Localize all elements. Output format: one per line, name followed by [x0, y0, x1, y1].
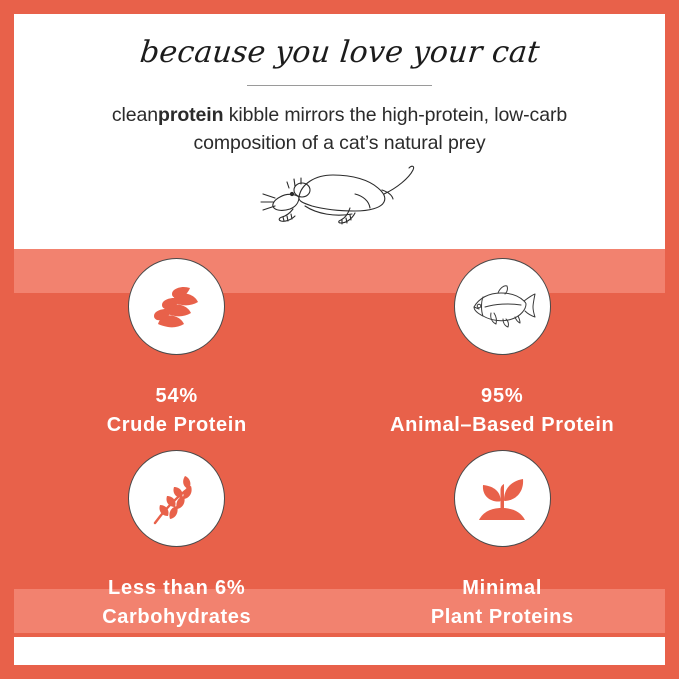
icon-circle — [128, 450, 225, 547]
wheat-stalk-icon — [147, 469, 207, 529]
stats-grid: 54% Crude Protein — [14, 249, 665, 633]
footer-white-card — [14, 637, 665, 665]
subheading-rest: kibble mirrors the high-protein, low-car… — [193, 104, 567, 154]
icon-circle — [454, 450, 551, 547]
stat-animal-based-protein: 95% Animal–Based Protein — [340, 249, 666, 441]
subheading-prefix: clean — [112, 104, 158, 126]
stat-label: Plant Proteins — [431, 605, 574, 630]
stat-label: Crude Protein — [107, 413, 247, 438]
header-card: because you love your cat cleanprotein k… — [14, 14, 665, 249]
mouse-icon — [257, 164, 422, 226]
stat-plant-proteins: Minimal Plant Proteins — [340, 441, 666, 633]
stat-label: Animal–Based Protein — [390, 413, 614, 438]
stat-value: 54% — [156, 384, 198, 409]
mouse-illustration — [255, 163, 425, 227]
fish-icon — [467, 283, 537, 331]
stat-label: Carbohydrates — [102, 605, 251, 630]
stat-crude-protein: 54% Crude Protein — [14, 249, 340, 441]
title-divider — [247, 85, 432, 86]
product-benefits-poster: because you love your cat cleanprotein k… — [0, 0, 679, 679]
stat-value: 95% — [481, 384, 523, 409]
stat-carbohydrates: Less than 6% Carbohydrates — [14, 441, 340, 633]
sprout-icon — [471, 470, 533, 528]
subheading-bold: protein — [158, 104, 223, 126]
stat-value: Minimal — [462, 576, 542, 601]
page-title: because you love your cat — [138, 36, 541, 71]
icon-circle — [128, 258, 225, 355]
stat-value: Less than 6% — [108, 576, 245, 601]
subheading: cleanprotein kibble mirrors the high-pro… — [60, 101, 620, 158]
icon-circle — [454, 258, 551, 355]
protein-helix-icon — [146, 276, 208, 338]
